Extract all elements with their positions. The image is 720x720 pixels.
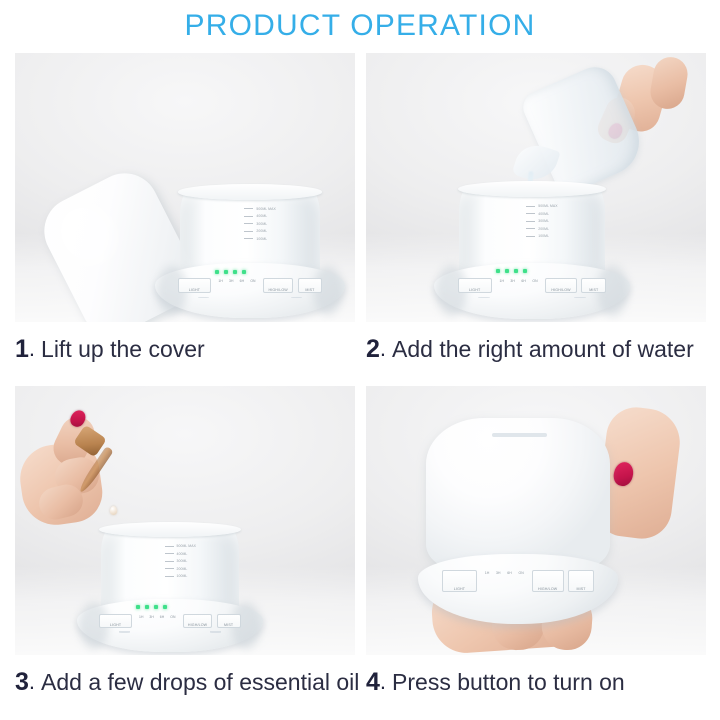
timer-marks: 1H 3H 6H ON [215, 278, 258, 283]
scale-tick-icon [244, 216, 253, 217]
led-indicator [496, 269, 500, 273]
scale-row: 300ML [526, 219, 575, 223]
scale-row: 100ML [244, 237, 292, 241]
page-title-text: PRODUCT OPERATION [185, 9, 536, 42]
high-low-button[interactable]: HIGH/LOW [183, 614, 213, 628]
step-number: 2 [366, 335, 380, 363]
step-3-caption: 3 . Add a few drops of essential oil [15, 662, 355, 702]
step-dot: . [380, 669, 386, 695]
mist-button[interactable]: MIST [568, 570, 594, 592]
scale-row: 400ML [526, 212, 575, 216]
high-low-button[interactable]: HIGH/LOW [532, 570, 564, 592]
scale-tick-icon [526, 236, 535, 237]
timer-marks: 1H 3H 6H ON [496, 278, 541, 283]
foot [291, 297, 302, 298]
control-button-row: LIGHT 1H 3H 6H ON HIGH/LOW MIST [99, 614, 240, 628]
led-indicator [233, 270, 237, 274]
scale-row: 100ML [165, 574, 212, 578]
foot [198, 297, 209, 298]
step-dot: . [29, 336, 35, 362]
led-indicators [496, 269, 527, 273]
control-button-row: LIGHT 1H 3H 6H ON HIGH/LOW MIST [178, 278, 322, 293]
scale-row: 400ML [244, 214, 292, 218]
step-card-1: 500ML MAX 400ML 300ML 200ML 100ML [15, 53, 355, 322]
foot [119, 631, 130, 632]
led-indicator [523, 269, 527, 273]
diffuser-unit: 500ML MAX 400ML 300ML 200ML 100ML [434, 185, 630, 319]
high-low-button[interactable]: HIGH/LOW [545, 278, 576, 293]
scale-tick-icon [165, 553, 174, 554]
control-panel: LIGHT 1H 3H 6H ON HIGH/LOW MIST [99, 604, 240, 632]
water-level-scale: 500ML MAX 400ML 300ML 200ML 100ML [165, 544, 212, 582]
mist-button[interactable]: MIST [581, 278, 606, 293]
control-button-row: LIGHT 1H 3H 6H ON HIGH/LOW MIST [442, 570, 594, 592]
led-indicator [145, 605, 149, 609]
control-button-row: LIGHT 1H 3H 6H ON HIGH/LOW MIST [458, 278, 607, 293]
scale-row: 400ML [165, 552, 212, 556]
foot [478, 297, 490, 298]
mist-button[interactable]: MIST [298, 278, 323, 293]
scale-tick-icon [244, 223, 253, 224]
light-button[interactable]: LIGHT [442, 570, 477, 592]
step-card-2: 500ML MAX 400ML 300ML 200ML 100ML [366, 53, 706, 322]
diffuser-unit: 500ML MAX 400ML 300ML 200ML 100ML [77, 526, 263, 652]
scale-tick-icon [165, 576, 174, 577]
scale-tick-icon [244, 208, 253, 209]
step-1-photo: 500ML MAX 400ML 300ML 200ML 100ML [15, 53, 355, 322]
step-4-photo: LIGHT 1H 3H 6H ON HIGH/LOW MIST [366, 386, 706, 655]
water-level-scale: 500ML MAX 400ML 300ML 200ML 100ML [244, 207, 292, 245]
led-indicator [242, 270, 246, 274]
led-indicators [215, 270, 246, 274]
timer-marks: 1H 3H 6H ON [136, 614, 178, 619]
diffuser-rim [458, 181, 607, 197]
scale-tick-icon [526, 221, 535, 222]
led-indicator [136, 605, 140, 609]
step-number: 4 [366, 668, 380, 696]
step-text: Press button to turn on [392, 668, 625, 696]
scale-row: 300ML [244, 222, 292, 226]
diffuser-feet [198, 297, 302, 298]
led-indicator [163, 605, 167, 609]
diffuser-feet [119, 631, 221, 632]
scale-tick-icon [526, 213, 535, 214]
scale-tick-icon [244, 231, 253, 232]
foot [574, 297, 586, 298]
led-indicator [224, 270, 228, 274]
led-indicator [215, 270, 219, 274]
control-panel: LIGHT 1H 3H 6H ON HIGH/LOW MIST [178, 269, 322, 298]
scale-tick-icon [165, 561, 174, 562]
led-indicator [514, 269, 518, 273]
step-1-caption: 1 . Lift up the cover [15, 329, 355, 369]
step-4-caption: 4 . Press button to turn on [366, 662, 706, 702]
high-low-button[interactable]: HIGH/LOW [263, 278, 293, 293]
mist-outlet [492, 433, 547, 437]
scale-tick-icon [526, 228, 535, 229]
control-panel: LIGHT 1H 3H 6H ON HIGH/LOW MIST [458, 268, 607, 297]
diffuser-feet [478, 297, 585, 298]
diffuser-lid-on [426, 418, 610, 570]
scale-row: 100ML [526, 234, 575, 238]
steps-grid: 500ML MAX 400ML 300ML 200ML 100ML [0, 53, 720, 720]
foot [210, 631, 221, 632]
mist-button[interactable]: MIST [217, 614, 241, 628]
step-number: 3 [15, 668, 29, 696]
scale-row: 200ML [526, 227, 575, 231]
diffuser-assembled: LIGHT 1H 3H 6H ON HIGH/LOW MIST [418, 418, 618, 624]
scale-row: 500ML MAX [526, 204, 575, 208]
diffuser-body: 500ML MAX 400ML 300ML 200ML 100ML [101, 526, 239, 609]
led-indicators [136, 605, 167, 609]
step-text: Add the right amount of water [392, 335, 694, 363]
step-text: Add a few drops of essential oil [41, 668, 359, 696]
light-button[interactable]: LIGHT [178, 278, 211, 293]
oil-drop [110, 506, 117, 515]
step-text: Lift up the cover [41, 335, 205, 363]
light-button[interactable]: LIGHT [99, 614, 132, 628]
step-dot: . [380, 336, 386, 362]
page-title: PRODUCT OPERATION [0, 8, 720, 44]
scale-row: 300ML [165, 559, 212, 563]
step-number: 1 [15, 335, 29, 363]
step-2-photo: 500ML MAX 400ML 300ML 200ML 100ML [366, 53, 706, 322]
scale-tick-icon [526, 206, 535, 207]
scale-row: 500ML MAX [244, 207, 292, 211]
scale-row: 200ML [165, 567, 212, 571]
step-card-4: LIGHT 1H 3H 6H ON HIGH/LOW MIST [366, 386, 706, 655]
step-card-3: 500ML MAX 400ML 300ML 200ML 100ML [15, 386, 355, 655]
scale-tick-icon [165, 546, 174, 547]
step-dot: . [29, 669, 35, 695]
step-3-photo: 500ML MAX 400ML 300ML 200ML 100ML [15, 386, 355, 655]
diffuser-unit: 500ML MAX 400ML 300ML 200ML 100ML [155, 188, 345, 318]
diffuser-body: 500ML MAX 400ML 300ML 200ML 100ML [459, 185, 604, 273]
control-panel: LIGHT 1H 3H 6H ON HIGH/LOW MIST [442, 566, 594, 601]
scale-row: 500ML MAX [165, 544, 212, 548]
timer-marks: 1H 3H 6H ON [482, 570, 528, 575]
step-2-caption: 2 . Add the right amount of water [366, 329, 706, 369]
led-indicator [505, 269, 509, 273]
water-level-scale: 500ML MAX 400ML 300ML 200ML 100ML [526, 204, 575, 242]
light-button[interactable]: LIGHT [458, 278, 492, 293]
scale-row: 200ML [244, 229, 292, 233]
diffuser-rim [178, 184, 322, 200]
led-indicator [154, 605, 158, 609]
diffuser-body: 500ML MAX 400ML 300ML 200ML 100ML [180, 188, 321, 274]
scale-tick-icon [244, 238, 253, 239]
scale-tick-icon [165, 568, 174, 569]
